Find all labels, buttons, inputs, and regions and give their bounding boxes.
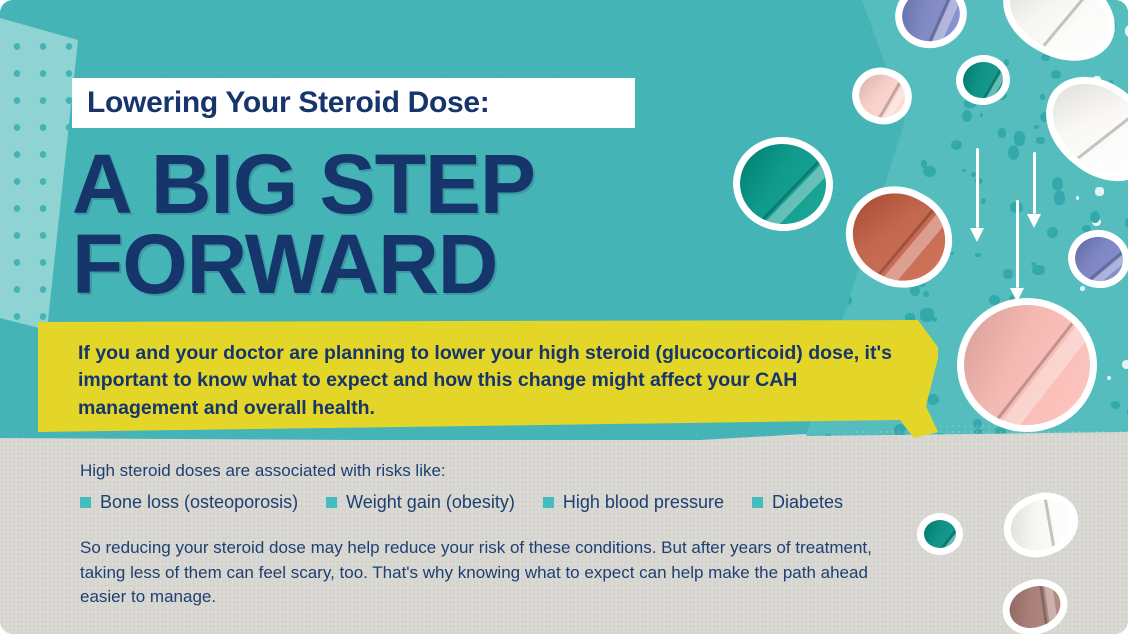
pill-teal-small-top: [953, 51, 1013, 108]
headline-line-2: FORWARD: [72, 222, 497, 306]
headline-line-1: A BIG STEP: [72, 142, 535, 226]
pill-score-line: [974, 58, 1008, 109]
pill-body: [994, 482, 1088, 568]
pill-score-line: [981, 304, 1086, 432]
bullet-square-icon: [752, 497, 763, 508]
pill-body: [995, 570, 1075, 634]
arrow-head: [970, 228, 984, 242]
pill-teal-small-low: [917, 513, 963, 555]
pill-mauve-low: [995, 570, 1075, 634]
pill-highlight: [995, 303, 1097, 432]
risk-bullet-label: Bone loss (osteoporosis): [100, 492, 298, 513]
risks-bullet-row: Bone loss (osteoporosis)Weight gain (obe…: [80, 492, 871, 513]
risk-bullet-label: Diabetes: [772, 492, 843, 513]
risk-bullet: Weight gain (obesity): [326, 492, 515, 513]
pill-score-line: [862, 198, 943, 294]
bullet-square-icon: [326, 497, 337, 508]
pill-highlight: [873, 76, 913, 132]
pill-body: [845, 60, 919, 132]
pill-pink-small: [845, 60, 919, 132]
pill-highlight: [758, 148, 838, 236]
arrow-shaft: [1033, 152, 1036, 214]
pill-pink-large: [957, 298, 1097, 432]
pill-body: [1063, 224, 1128, 294]
bullet-square-icon: [80, 497, 91, 508]
pill-body: [888, 0, 974, 56]
eyebrow-title-box: Lowering Your Steroid Dose:: [72, 78, 635, 128]
infographic-poster: Lowering Your Steroid Dose: A BIG STEP F…: [0, 0, 1128, 634]
pill-highlight: [1043, 576, 1060, 634]
pill-body: [828, 168, 969, 305]
pill-highlight: [871, 203, 957, 301]
pill-body: [728, 132, 837, 236]
risk-bullet: Bone loss (osteoporosis): [80, 492, 298, 513]
pill-score-line: [930, 519, 963, 555]
risk-bullet-label: Weight gain (obesity): [346, 492, 515, 513]
arrow-head: [1010, 288, 1024, 302]
yellow-callout-text: If you and your doctor are planning to l…: [78, 340, 908, 422]
pill-white-oval-right: [1026, 56, 1128, 202]
pill-score-line: [1076, 243, 1128, 292]
bullet-square-icon: [543, 497, 554, 508]
pill-score-line: [747, 148, 831, 235]
pill-white-oval-low: [994, 482, 1088, 568]
pill-body: [957, 298, 1097, 432]
eyebrow-title-text: Lowering Your Steroid Dose:: [72, 86, 490, 120]
closing-paragraph: So reducing your steroid dose may help r…: [80, 536, 910, 610]
arrow-shaft: [976, 148, 979, 228]
risks-lead-text: High steroid doses are associated with r…: [80, 460, 446, 482]
risk-bullet: High blood pressure: [543, 492, 724, 513]
pill-body: [1026, 56, 1128, 202]
pill-body: [953, 51, 1013, 108]
arrow-shaft: [1016, 200, 1019, 288]
pill-periwinkle-top: [888, 0, 974, 56]
pill-highlight: [980, 57, 1014, 108]
pill-body: [917, 513, 963, 555]
pill-highlight: [1067, 110, 1128, 187]
risk-bullet-label: High blood pressure: [563, 492, 724, 513]
yellow-callout: If you and your doctor are planning to l…: [38, 320, 938, 438]
pill-periwinkle-right: [1063, 224, 1128, 294]
arrow-head: [1027, 214, 1041, 228]
pill-terracotta: [828, 168, 969, 305]
risk-bullet: Diabetes: [752, 492, 843, 513]
pill-teal-large: [728, 132, 837, 236]
